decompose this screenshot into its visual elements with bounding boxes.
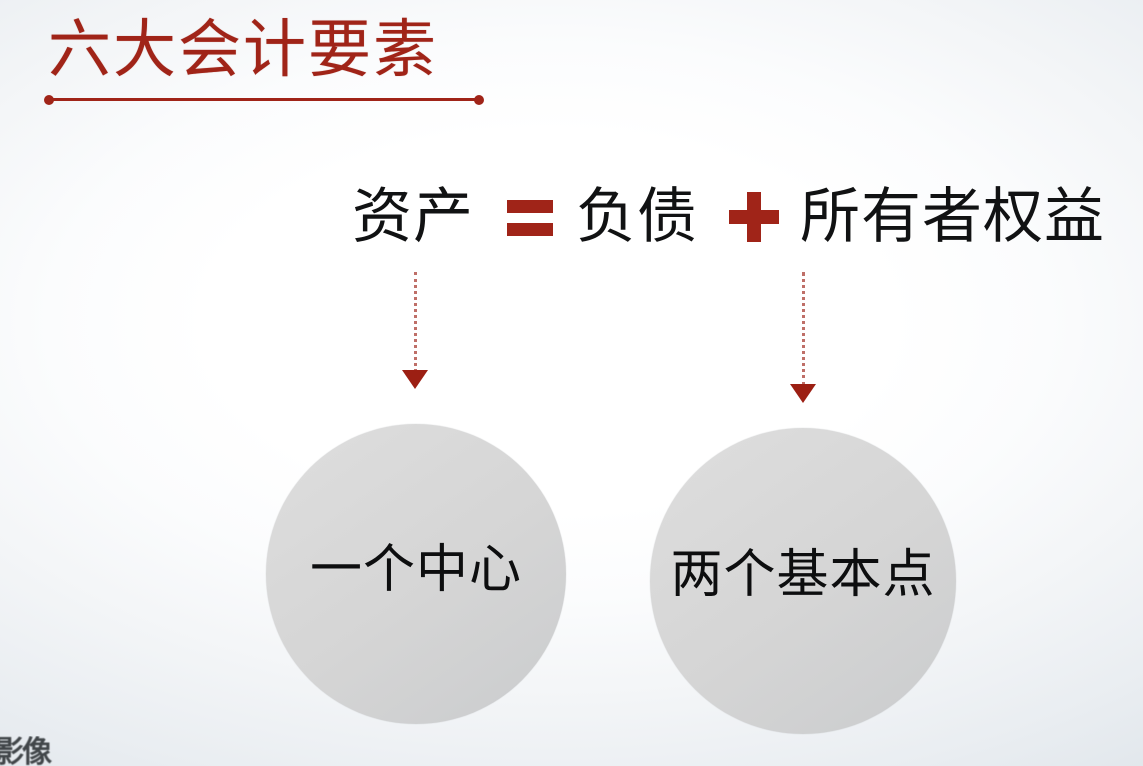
equation-term-assets: 资产: [352, 184, 474, 250]
slide-canvas: 六大会计要素 资产 负债 所有者权益 一个中心 两个基本点 影像: [0, 0, 1143, 766]
arrow-head: [402, 370, 428, 389]
equals-sign-icon: [502, 188, 560, 246]
underline-rule: [48, 98, 480, 101]
circle-label: 两个基本点: [670, 546, 935, 604]
arrow-stem: [414, 272, 417, 372]
arrow-stem: [802, 272, 805, 386]
page-title: 六大会计要素: [48, 14, 438, 86]
dotted-down-arrow-icon-right: [796, 272, 810, 408]
title-underline-decoration: [44, 94, 484, 104]
equation-term-liabilities: 负债: [576, 184, 698, 250]
circle-two-basic-points: 两个基本点: [650, 428, 956, 734]
equation-term-owners-equity: 所有者权益: [800, 184, 1105, 250]
underline-dot-right: [474, 95, 484, 105]
accounting-equation: 资产 负债 所有者权益: [352, 172, 1105, 262]
plus-sign-icon: [726, 188, 784, 246]
circle-label: 一个中心: [310, 541, 522, 599]
title-block: 六大会计要素: [44, 14, 514, 109]
watermark-logo: 影像: [0, 736, 90, 766]
watermark-text: 影像: [0, 736, 50, 766]
circle-one-center: 一个中心: [266, 424, 566, 724]
dotted-down-arrow-icon-left: [408, 272, 422, 392]
arrow-head: [790, 384, 816, 403]
